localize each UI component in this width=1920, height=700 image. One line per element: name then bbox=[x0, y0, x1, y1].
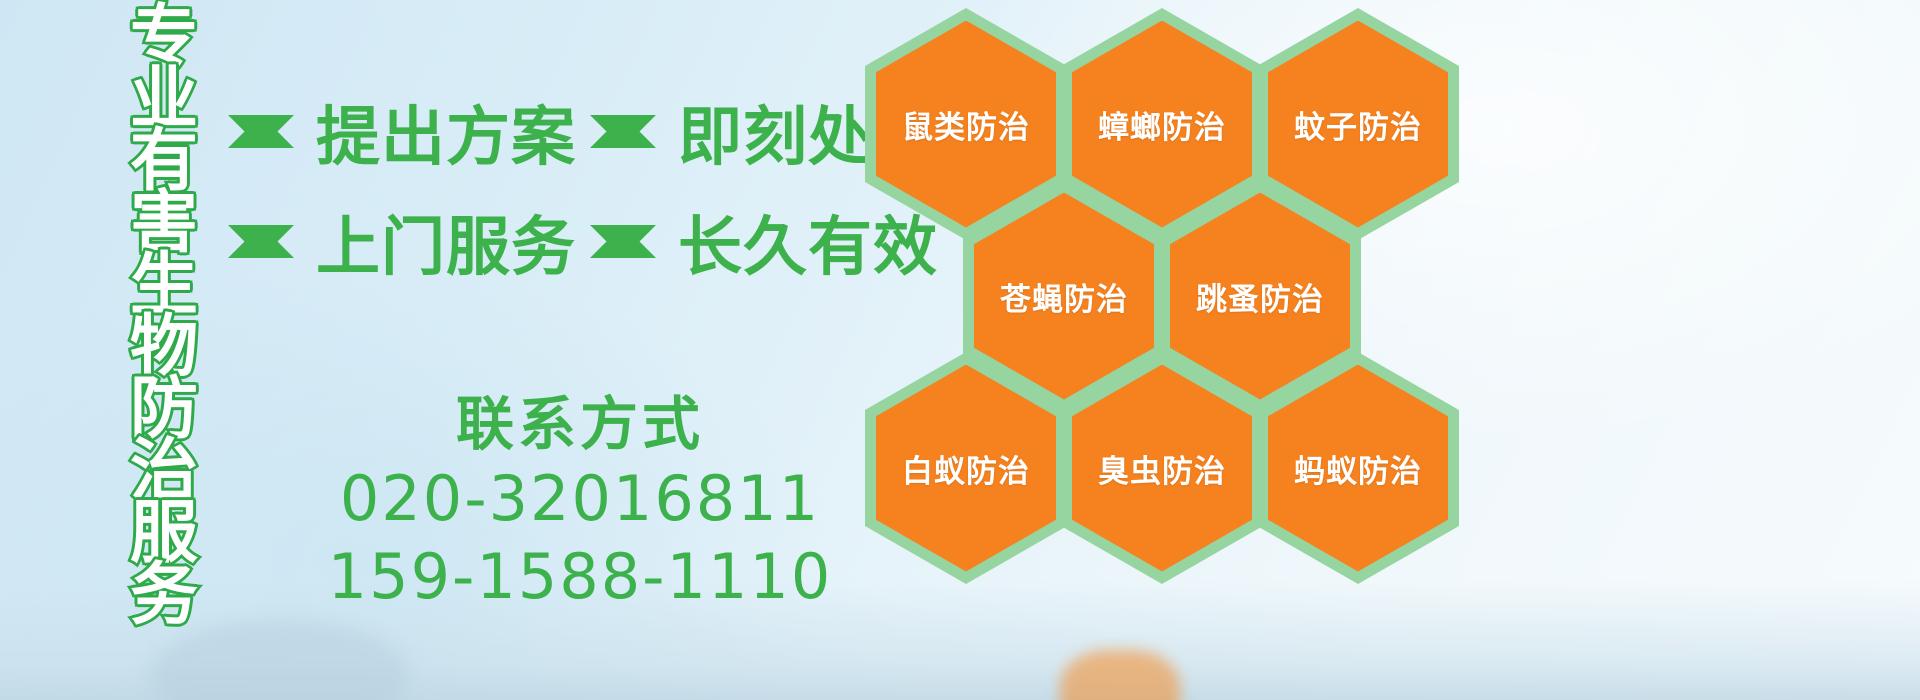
hex-inner: 蚂蚁防治 bbox=[1268, 365, 1448, 572]
vertical-title-char: 务 bbox=[130, 564, 198, 626]
vertical-title-char: 业 bbox=[130, 68, 198, 130]
vertical-title-char: 治 bbox=[130, 440, 198, 502]
vertical-title-char: 服 bbox=[130, 502, 198, 564]
hex-inner: 鼠类防治 bbox=[876, 21, 1056, 228]
bullet-label-propose-plan: 提出方案 bbox=[316, 86, 576, 178]
hex-label: 臭虫防治 bbox=[1098, 446, 1226, 491]
hex-label: 蚂蚁防治 bbox=[1294, 446, 1422, 491]
hex-inner: 白蚁防治 bbox=[876, 365, 1056, 572]
diamond-bullet-icon bbox=[590, 225, 656, 291]
bullet-row-2: 上门服务 长久有效 bbox=[228, 196, 938, 288]
diamond-bullet-icon bbox=[228, 115, 294, 181]
hex-label: 苍蝇防治 bbox=[1000, 274, 1128, 319]
hex-label: 鼠类防治 bbox=[902, 102, 1030, 147]
vertical-title-char: 生 bbox=[130, 254, 198, 316]
hex-label: 跳蚤防治 bbox=[1196, 274, 1324, 319]
hex-inner: 臭虫防治 bbox=[1072, 365, 1252, 572]
vertical-title-char: 专 bbox=[130, 6, 198, 68]
vertical-title-char: 防 bbox=[130, 378, 198, 440]
phone-number-landline[interactable]: 020-32016811 bbox=[300, 460, 860, 538]
bullet-label-onsite-service: 上门服务 bbox=[316, 196, 576, 288]
hex-label: 蚊子防治 bbox=[1294, 102, 1422, 147]
vertical-title-char: 害 bbox=[130, 192, 198, 254]
vertical-title: 专 业 有 害 生 物 防 治 服 务 bbox=[112, 6, 216, 626]
hex-inner: 蟑螂防治 bbox=[1072, 21, 1252, 228]
hex-label: 蟑螂防治 bbox=[1098, 102, 1226, 147]
hex-label: 白蚁防治 bbox=[902, 446, 1030, 491]
diamond-bullet-icon bbox=[590, 115, 656, 181]
diamond-bullet-icon bbox=[228, 225, 294, 291]
honeycomb-service-grid: 鼠类防治 蟑螂防治 蚊子防治 苍蝇防治 跳蚤防治 白蚁防治 bbox=[855, 0, 1475, 700]
phone-number-mobile[interactable]: 159-1588-1110 bbox=[300, 538, 860, 616]
hex-inner: 苍蝇防治 bbox=[974, 193, 1154, 400]
hex-inner: 跳蚤防治 bbox=[1170, 193, 1350, 400]
bullet-row-1: 提出方案 即刻处理 bbox=[228, 86, 938, 178]
pest-control-banner: 专 业 有 害 生 物 防 治 服 务 提出方案 即刻处理 上门服务 长久有效 … bbox=[0, 0, 1920, 700]
hex-inner: 蚊子防治 bbox=[1268, 21, 1448, 228]
vertical-title-char: 物 bbox=[130, 316, 198, 378]
vertical-title-char: 有 bbox=[130, 130, 198, 192]
contact-block: 联系方式 020-32016811 159-1588-1110 bbox=[300, 390, 860, 616]
contact-title: 联系方式 bbox=[300, 390, 860, 460]
